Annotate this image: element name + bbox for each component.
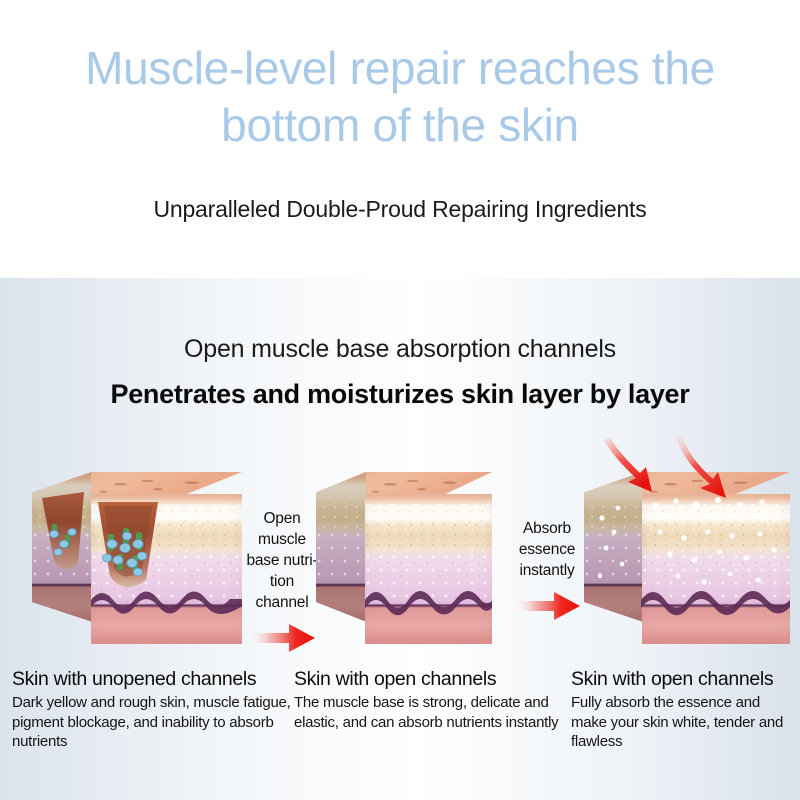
- caption-body: Dark yellow and rough skin, muscle fatig…: [12, 693, 292, 752]
- caption-block-unopened: Skin with unopened channels Dark yellow …: [12, 668, 292, 752]
- skin-diagram-open: [316, 472, 492, 644]
- page-title: Muscle-level repair reaches the bottom o…: [40, 40, 760, 154]
- caption-title: Skin with open channels: [294, 668, 562, 691]
- blocked-channel-overlay: [32, 472, 242, 644]
- caption-body: The muscle base is strong, delicate and …: [294, 693, 562, 732]
- arrow-right-icon: [249, 622, 315, 654]
- caption-block-open: Skin with open channels The muscle base …: [294, 668, 562, 732]
- dermal-junction-overlay: [316, 472, 492, 644]
- header-band: Muscle-level repair reaches the bottom o…: [0, 0, 800, 278]
- connector-label-2: Absorb essence instantly: [508, 518, 586, 581]
- caption-body: Fully absorb the essence and make your s…: [571, 693, 797, 752]
- absorb-essence-connector: Absorb essence instantly: [508, 518, 586, 622]
- section-heading-emphasis: Penetrates and moisturizes skin layer by…: [40, 379, 760, 410]
- caption-title: Skin with unopened channels: [12, 668, 292, 691]
- caption-block-absorbing: Skin with open channels Fully absorb the…: [571, 668, 797, 752]
- skin-diagram-unopened: [32, 472, 242, 644]
- section-heading-primary: Open muscle base absorption channels: [40, 335, 760, 364]
- infographic-page: Muscle-level repair reaches the bottom o…: [0, 0, 800, 800]
- page-subtitle: Unparalleled Double-Proud Repairing Ingr…: [40, 196, 760, 223]
- open-channel-connector: Open muscle base nutri-tion channel: [246, 508, 318, 654]
- absorption-arrows-icon: [592, 436, 742, 506]
- caption-title: Skin with open channels: [571, 668, 797, 691]
- connector-label-1: Open muscle base nutri-tion channel: [246, 508, 318, 613]
- arrow-right-icon: [514, 590, 580, 622]
